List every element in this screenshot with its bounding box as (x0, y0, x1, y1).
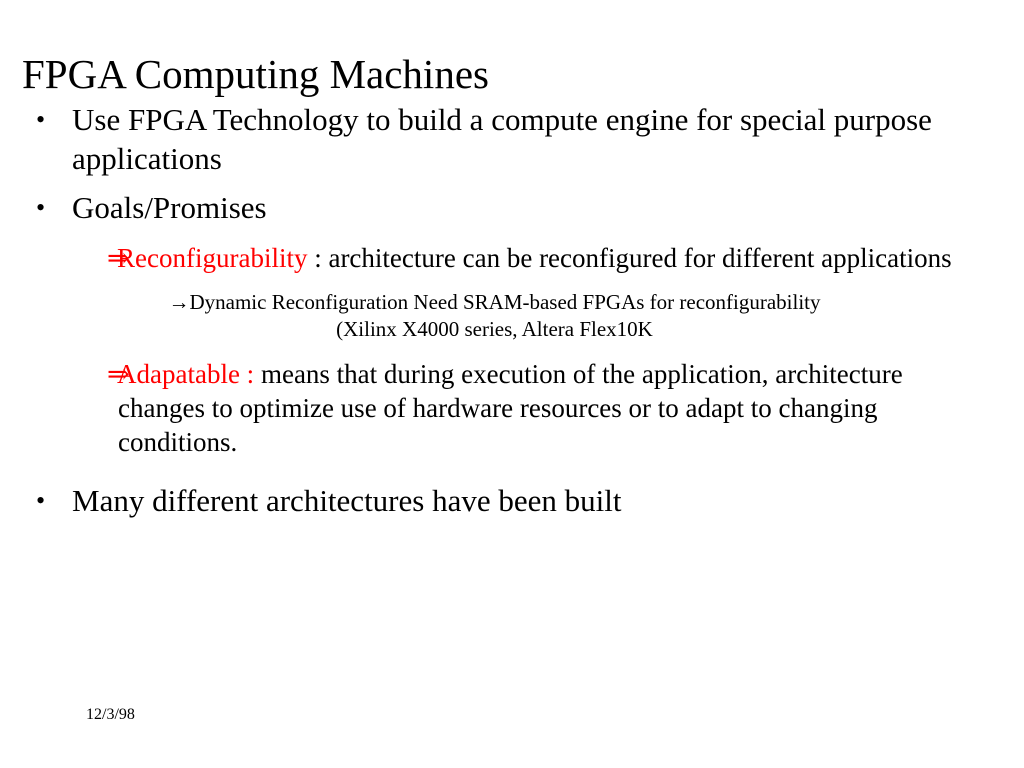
bullet-item-level1: • Many different architectures have been… (0, 481, 1024, 520)
double-arrow-icon: ⇒ (108, 357, 130, 391)
spacer (0, 178, 1024, 188)
bullet-text: Many different architectures have been b… (72, 483, 621, 518)
spacer (0, 459, 1024, 481)
spacer (0, 343, 1024, 357)
slide-body: • Use FPGA Technology to build a compute… (0, 100, 1024, 520)
bullet-item-level1: • Goals/Promises (0, 188, 1024, 227)
bullet-dot-icon: • (36, 188, 45, 227)
spacer (0, 227, 1024, 241)
bullet-dot-icon: • (36, 100, 45, 139)
footer-date: 12/3/98 (86, 705, 135, 725)
bullet-text: Use FPGA Technology to build a compute e… (72, 102, 932, 176)
spacer (0, 275, 1024, 289)
bullet-text: Dynamic Reconfiguration Need SRAM-based … (189, 290, 820, 341)
bullet-item-level2: ⇒ Adapatable : means that during executi… (0, 357, 1024, 459)
bullet-text: Goals/Promises (72, 190, 267, 225)
bullet-emphasis-term: Adapatable : (117, 359, 254, 389)
page-title: FPGA Computing Machines (22, 49, 982, 99)
bullet-item-level3: →Dynamic Reconfiguration Need SRAM-based… (140, 289, 849, 343)
bullet-item-level2: ⇒ Reconfigurability : architecture can b… (0, 241, 1024, 275)
bullet-text: : architecture can be reconfigured for d… (307, 243, 951, 273)
double-arrow-icon: ⇒ (108, 241, 130, 275)
bullet-dot-icon: • (36, 481, 45, 520)
bullet-emphasis-term: Reconfigurability (117, 243, 307, 273)
bullet-item-level1: • Use FPGA Technology to build a compute… (0, 100, 1024, 178)
single-arrow-icon: → (168, 290, 189, 314)
slide-canvas: FPGA Computing Machines • Use FPGA Techn… (0, 0, 1024, 768)
